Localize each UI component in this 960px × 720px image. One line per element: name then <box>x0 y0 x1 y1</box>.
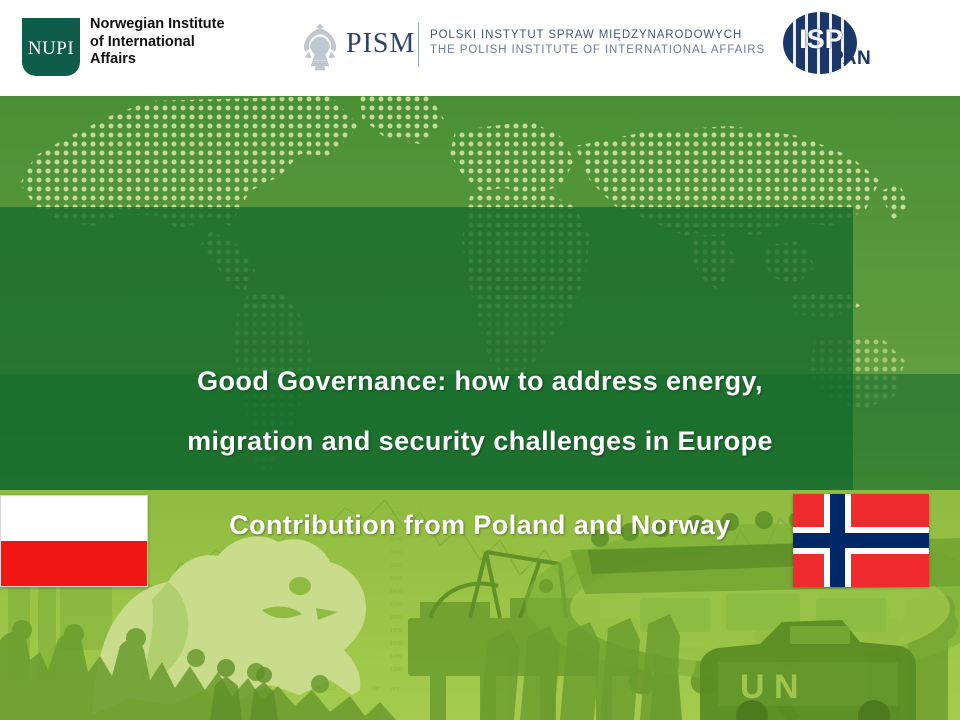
slide-subtitle: Contribution from Poland and Norway <box>229 510 731 541</box>
svg-text:2400: 2400 <box>390 589 402 595</box>
nupi-name: Norwegian Institute of International Aff… <box>90 16 260 69</box>
nupi-name-line-1: Norwegian Institute <box>90 16 260 34</box>
norway-flag-blue-vertical <box>830 494 845 587</box>
norway-flag-blue-horizontal <box>793 533 929 548</box>
nupi-shield-icon: NUPI <box>22 18 80 76</box>
pism-name-polish: POLSKI INSTYTUT SPRAW MIĘDZYNARODOWYCH <box>430 28 765 43</box>
nupi-mark-text: NUPI <box>22 38 80 60</box>
svg-text:1200: 1200 <box>390 667 402 673</box>
polish-eagle-icon <box>296 20 344 72</box>
title-line-2: migration and security challenges in Eur… <box>0 411 960 471</box>
svg-text:1800: 1800 <box>390 628 402 634</box>
pism-divider <box>418 23 419 67</box>
poland-flag-white-band <box>1 496 147 541</box>
norway-flag <box>793 494 929 587</box>
pan-wordmark: PAN <box>831 48 871 70</box>
pism-fullname: POLSKI INSTYTUT SPRAW MIĘDZYNARODOWYCH T… <box>430 28 765 58</box>
slide-title: Good Governance: how to address energy, … <box>0 351 960 471</box>
svg-text:1600: 1600 <box>390 641 402 647</box>
svg-text:Oct: Oct <box>328 686 337 692</box>
pism-logo: PISM POLSKI INSTYTUT SPRAW MIĘDZYNARODOW… <box>296 18 696 76</box>
slide-stage: 36003400 32003000 28002600 24002200 2000… <box>0 96 960 720</box>
svg-text:2200: 2200 <box>390 602 402 608</box>
nupi-logo: NUPI Norwegian Institute of Internationa… <box>22 16 252 80</box>
pism-wordmark: PISM <box>346 28 415 60</box>
poland-flag-red-band <box>1 541 147 586</box>
svg-text:2000: 2000 <box>390 615 402 621</box>
logo-header-bar: NUPI Norwegian Institute of Internationa… <box>0 0 960 96</box>
svg-text:2600: 2600 <box>390 576 402 582</box>
nupi-name-line-3: Affairs <box>90 51 260 69</box>
svg-text:1400: 1400 <box>390 654 402 660</box>
svg-text:De: De <box>372 686 379 692</box>
svg-text:2800: 2800 <box>390 563 402 569</box>
svg-text:Ja'y: Ja'y <box>390 686 400 692</box>
nupi-name-line-2: of International <box>90 34 260 52</box>
isp-pan-logo: ISP PAN <box>783 12 903 78</box>
title-line-1: Good Governance: how to address energy, <box>0 351 960 411</box>
presentation-slide: NUPI Norwegian Institute of Internationa… <box>0 0 960 720</box>
un-vehicle-marking: U N <box>740 668 799 706</box>
poland-flag <box>0 495 148 587</box>
pism-name-english: THE POLISH INSTITUTE OF INTERNATIONAL AF… <box>430 43 765 58</box>
